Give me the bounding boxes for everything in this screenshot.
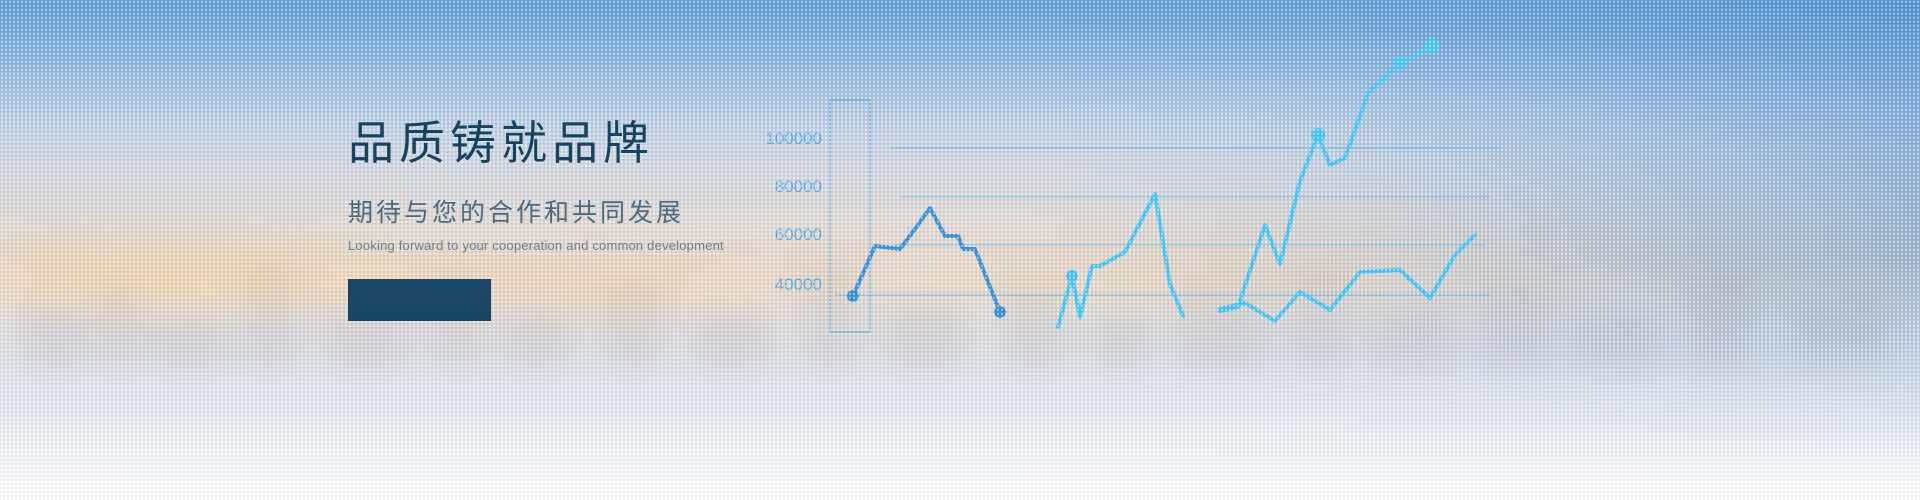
banner-tagline-english: Looking forward to your cooperation and … [348,238,724,253]
hero-banner: 100000 80000 60000 40000 [0,0,1920,500]
page-title: 品质铸就品牌 [348,118,724,169]
banner-copy: 品质铸就品牌 期待与您的合作和共同发展 Looking forward to y… [348,118,724,321]
cta-button[interactable] [348,279,491,321]
banner-subtitle: 期待与您的合作和共同发展 [348,193,724,229]
background-blue-wash [0,0,1920,500]
